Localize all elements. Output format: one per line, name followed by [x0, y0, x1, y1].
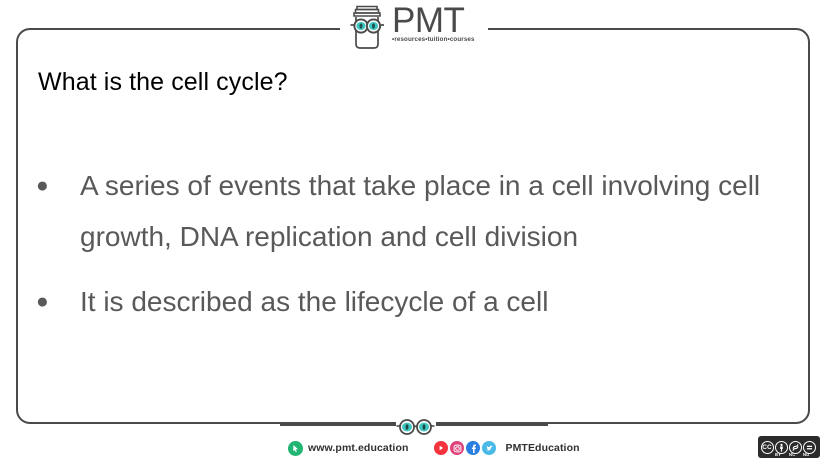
list-item-text: It is described as the lifecycle of a ce…	[80, 276, 770, 327]
glasses-icon	[394, 418, 438, 436]
list-item: ● A series of events that take place in …	[30, 160, 770, 262]
instagram-icon[interactable]	[450, 441, 464, 455]
website-label: www.pmt.education	[308, 442, 408, 454]
youtube-icon[interactable]	[434, 441, 448, 455]
page-title: What is the cell cycle?	[38, 68, 288, 97]
pmt-jar-glasses-logo	[344, 2, 390, 52]
cc-by-label: BY	[775, 452, 781, 457]
logo-text: PMT	[392, 4, 475, 38]
social-links: PMTEducation	[434, 441, 579, 455]
cc-nc-label: NC	[789, 452, 795, 457]
twitter-icon[interactable]	[482, 441, 496, 455]
social-handle-label: PMTEducation	[505, 442, 579, 454]
cc-by-nc-nd-badge[interactable]: CC BY NC ND	[758, 436, 820, 458]
list-item-text: A series of events that take place in a …	[80, 160, 770, 262]
cursor-arrow-icon	[288, 441, 303, 456]
logo-tagline: •resources•tuition•courses	[392, 36, 475, 43]
pmt-wordmark: PMT •resources•tuition•courses	[392, 2, 475, 43]
website-link[interactable]: www.pmt.education	[288, 441, 408, 456]
footer-links: www.pmt.education	[288, 438, 580, 458]
bullet-marker-icon: ●	[30, 160, 80, 211]
pmt-logo: PMT •resources•tuition•courses	[344, 2, 488, 56]
bullet-marker-icon: ●	[30, 276, 80, 327]
cc-nd-label: ND	[803, 452, 809, 457]
footer: www.pmt.education	[0, 424, 828, 466]
cc-icon: CC	[761, 441, 774, 454]
list-item: ● It is described as the lifecycle of a …	[30, 276, 770, 327]
facebook-icon[interactable]	[466, 441, 480, 455]
bullet-list: ● A series of events that take place in …	[30, 160, 770, 341]
